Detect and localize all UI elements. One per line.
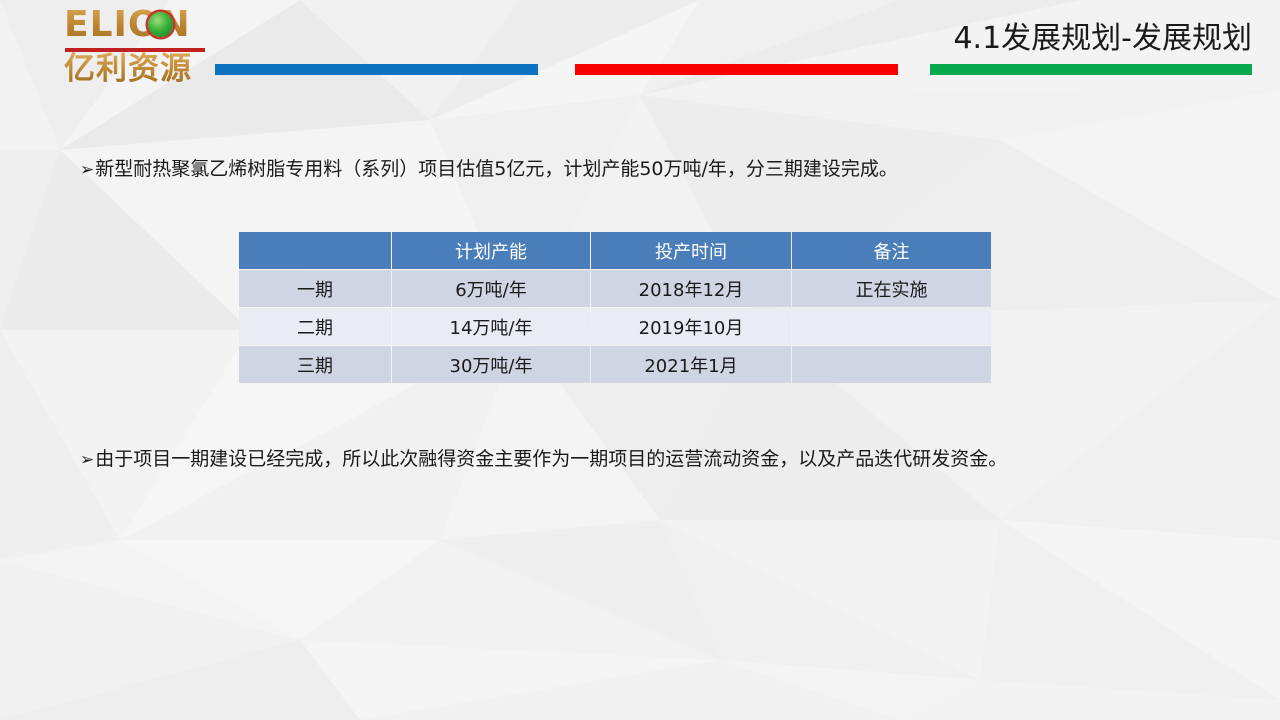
cell-phase: 二期: [239, 308, 391, 345]
slide-header: ELION 亿利资源 4.1发展规划-发展规划: [0, 0, 1280, 92]
column-header-remark: 备注: [792, 232, 991, 269]
cell-start-time: 2019年10月: [591, 308, 791, 345]
accent-bar-blue: [215, 64, 538, 75]
bullet-point-1: ➢新型耐热聚氯乙烯树脂专用料（系列）项目估值5亿元，计划产能50万吨/年，分三期…: [80, 155, 898, 184]
cell-capacity: 6万吨/年: [392, 270, 590, 307]
page-title: 4.1发展规划-发展规划: [953, 20, 1252, 58]
cell-start-time: 2018年12月: [591, 270, 791, 307]
table-row: 一期 6万吨/年 2018年12月 正在实施: [239, 270, 991, 307]
bullet-text-2: 由于项目一期建设已经完成，所以此次融得资金主要作为一期项目的运营流动资金，以及产…: [95, 448, 1007, 470]
table-row: 三期 30万吨/年 2021年1月: [239, 346, 991, 383]
accent-bar-red: [575, 64, 898, 75]
cell-remark: [792, 308, 991, 345]
slide-canvas: ELION 亿利资源 4.1发展规划-发展规划 ➢新型耐热聚氯乙烯树脂专用料（系…: [0, 0, 1280, 720]
cell-phase: 三期: [239, 346, 391, 383]
table-row: 二期 14万吨/年 2019年10月: [239, 308, 991, 345]
bullet-text-1: 新型耐热聚氯乙烯树脂专用料（系列）项目估值5亿元，计划产能50万吨/年，分三期建…: [95, 158, 898, 180]
column-header-capacity: 计划产能: [392, 232, 590, 269]
elion-logo: ELION 亿利资源: [64, 6, 210, 86]
globe-icon: [148, 12, 173, 37]
table-header-row: 计划产能 投产时间 备注: [239, 232, 991, 269]
cell-capacity: 30万吨/年: [392, 346, 590, 383]
column-header-start-time: 投产时间: [591, 232, 791, 269]
cell-phase: 一期: [239, 270, 391, 307]
capacity-plan-table: 计划产能 投产时间 备注 一期 6万吨/年 2018年12月 正在实施 二期 1…: [238, 231, 992, 384]
column-header-phase: [239, 232, 391, 269]
cell-capacity: 14万吨/年: [392, 308, 590, 345]
cell-remark: 正在实施: [792, 270, 991, 307]
accent-bar-green: [930, 64, 1252, 75]
bullet-point-2: ➢由于项目一期建设已经完成，所以此次融得资金主要作为一期项目的运营流动资金，以及…: [80, 445, 1007, 474]
cell-start-time: 2021年1月: [591, 346, 791, 383]
cell-remark: [792, 346, 991, 383]
bullet-marker-icon: ➢: [80, 156, 94, 184]
bullet-marker-icon: ➢: [80, 446, 94, 474]
logo-chinese-text: 亿利资源: [64, 52, 192, 86]
logo-latin-text: ELION: [64, 6, 210, 44]
